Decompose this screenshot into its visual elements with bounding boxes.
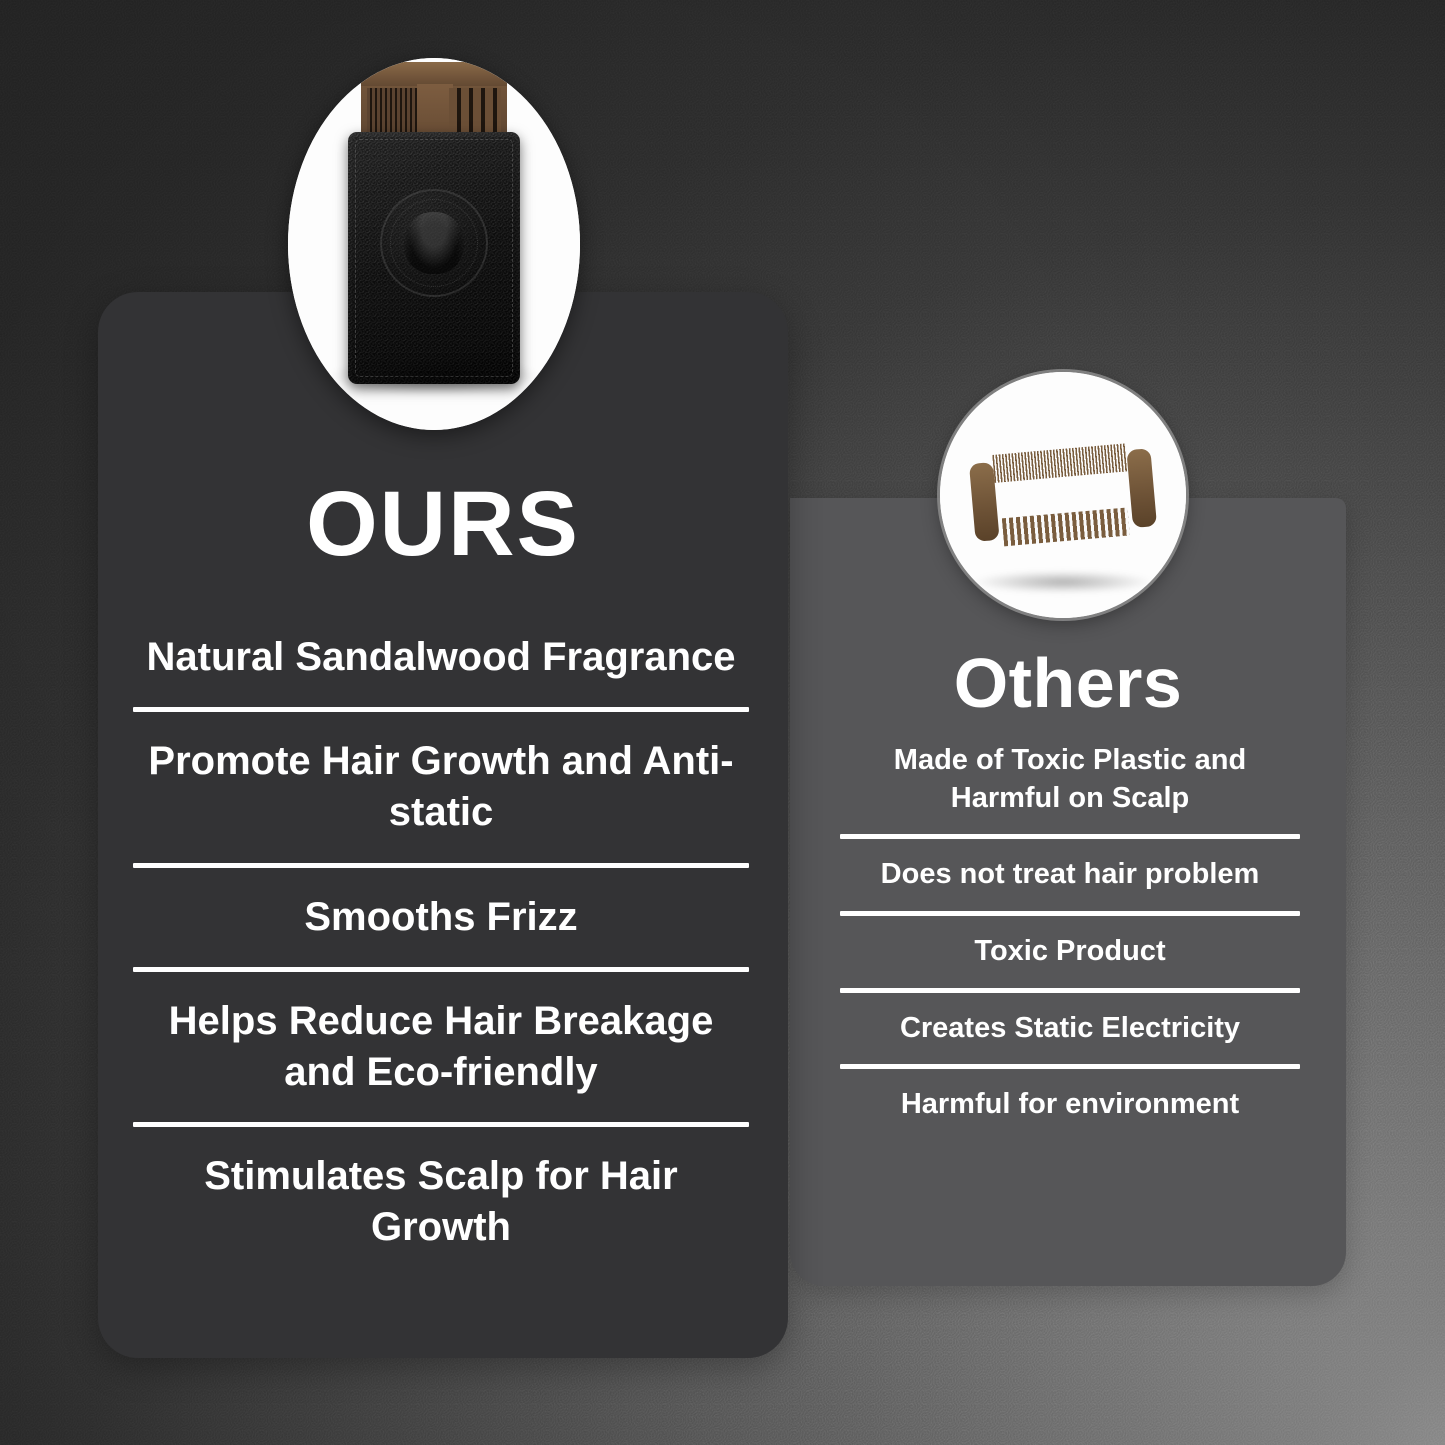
divider [840, 911, 1300, 916]
others-product-badge [940, 372, 1186, 618]
others-feature-item: Does not treat hair problem [840, 856, 1300, 894]
emblem-ring [390, 199, 478, 287]
wooden-double-sided-comb-icon [970, 441, 1155, 548]
others-feature-item: Harmful for environment [840, 1086, 1300, 1124]
ours-feature-item: Promote Hair Growth and Anti-static [133, 736, 749, 838]
ours-heading: OURS [98, 478, 788, 570]
comparison-infographic: Others Made of Toxic Plastic and Harmful… [0, 0, 1445, 1445]
ours-feature-item: Stimulates Scalp for Hair Growth [133, 1151, 749, 1253]
divider [840, 834, 1300, 839]
others-feature-item: Creates Static Electricity [840, 1010, 1300, 1048]
divider [133, 707, 749, 712]
ours-feature-list: Natural Sandalwood Fragrance Promote Hai… [133, 632, 749, 1254]
divider [133, 967, 749, 972]
product-shadow [329, 359, 539, 392]
ours-feature-item: Helps Reduce Hair Breakage and Eco-frien… [133, 996, 749, 1098]
others-heading: Others [790, 648, 1346, 718]
others-feature-list: Made of Toxic Plastic and Harmful on Sca… [840, 742, 1300, 1124]
others-feature-item: Toxic Product [840, 933, 1300, 971]
ours-feature-item: Smooths Frizz [133, 892, 749, 943]
ours-product-badge [288, 58, 580, 430]
others-feature-item: Made of Toxic Plastic and Harmful on Sca… [840, 742, 1300, 817]
product-shadow [974, 571, 1151, 593]
divider [840, 1064, 1300, 1069]
divider [840, 988, 1300, 993]
divider [133, 1122, 749, 1127]
leather-sleeve-icon [348, 132, 520, 384]
divider [133, 863, 749, 868]
ours-feature-item: Natural Sandalwood Fragrance [133, 632, 749, 683]
bearded-man-emblem-icon [380, 189, 488, 297]
